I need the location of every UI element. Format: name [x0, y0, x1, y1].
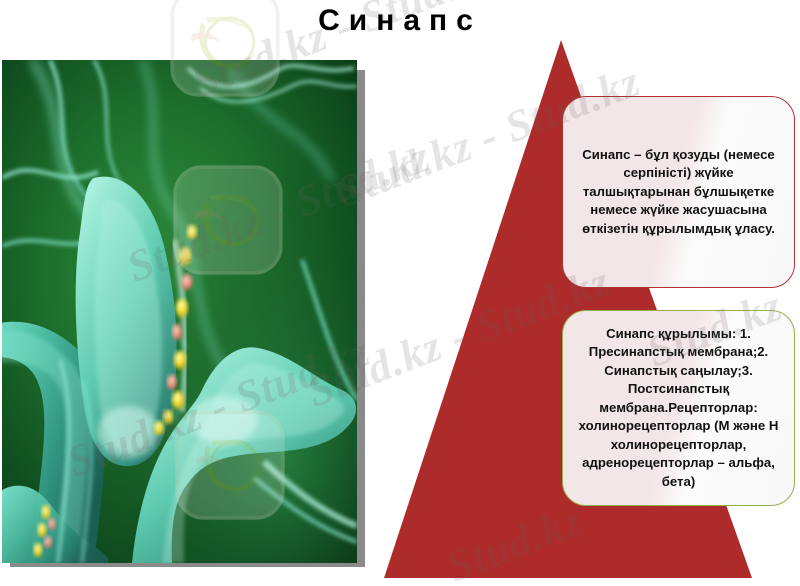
callout-definition: Синапс – бұл қозуды (немесе серпіністі) … — [562, 96, 795, 288]
callout-structure: Синапс құрылымы: 1. Пресинапстық мембран… — [562, 310, 795, 506]
synapse-image — [2, 60, 357, 563]
presentation-slide: Синапс — [0, 0, 800, 586]
callout-structure-text: Синапс құрылымы: 1. Пресинапстық мембран… — [577, 325, 780, 492]
page-title: Синапс — [0, 0, 800, 46]
watermark-text: Stud.kz — [440, 495, 589, 586]
callout-definition-text: Синапс – бұл қозуды (немесе серпіністі) … — [577, 146, 780, 239]
